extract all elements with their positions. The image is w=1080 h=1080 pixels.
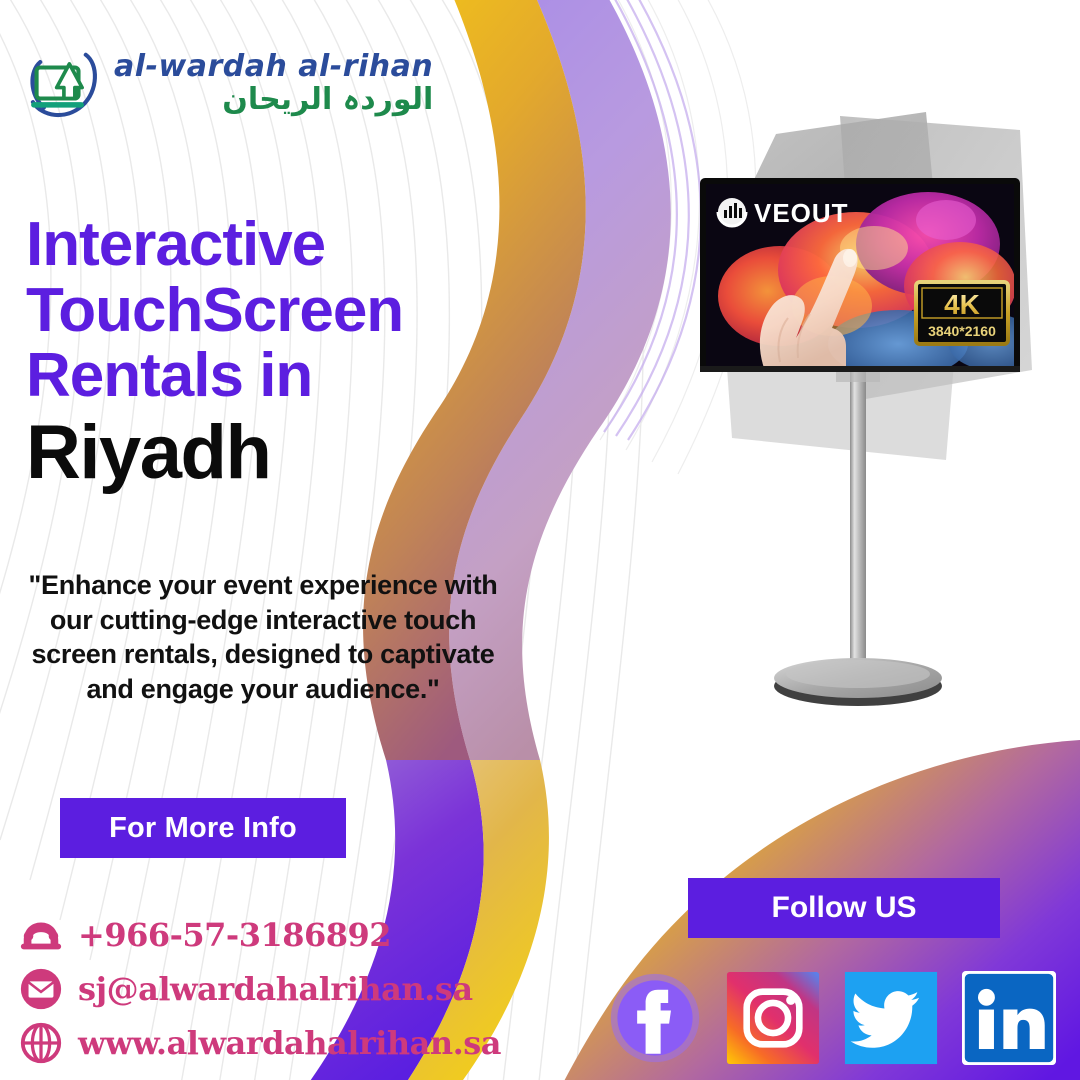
headline-line-3: Rentals in xyxy=(26,343,526,409)
email-icon xyxy=(18,966,64,1012)
headline-city: Riyadh xyxy=(26,413,526,493)
for-more-info-button[interactable]: For More Info xyxy=(60,798,346,858)
follow-us-heading[interactable]: Follow US xyxy=(688,878,1000,938)
contact-phone-value: +966-57-3186892 xyxy=(78,916,391,954)
poster-canvas: al-wardah al-rihan الوردہ الريحان Intera… xyxy=(0,0,1080,1080)
brand-arabic-name: الوردہ الريحان xyxy=(114,85,433,115)
resolution-badge: 4K 3840*2160 xyxy=(916,282,1008,344)
veout-brand-on-screen: VEOUT xyxy=(718,198,849,228)
headline-line-2: TouchScreen xyxy=(26,278,526,344)
svg-text:VEOUT: VEOUT xyxy=(754,198,849,228)
contact-row-phone[interactable]: +966-57-3186892 xyxy=(18,912,501,958)
svg-text:3840*2160: 3840*2160 xyxy=(928,323,996,339)
phone-icon xyxy=(18,912,64,958)
svg-text:4K: 4K xyxy=(944,289,980,320)
product-image: VEOUT 4K 3840*2160 xyxy=(660,100,1060,720)
brand-logo[interactable]: al-wardah al-rihan الوردہ الريحان xyxy=(22,42,433,124)
contact-list: +966-57-3186892 sj@alwardahalrihan.sa ww… xyxy=(18,912,501,1066)
headline-line-1: Interactive xyxy=(26,212,526,278)
tagline-text: "Enhance your event experience with our … xyxy=(14,568,512,706)
contact-website-value: www.alwardahalrihan.sa xyxy=(78,1024,501,1062)
page-title: Interactive TouchScreen Rentals in Riyad… xyxy=(26,212,526,493)
globe-icon xyxy=(18,1020,64,1066)
twitter-icon[interactable] xyxy=(844,971,938,1065)
instagram-icon[interactable] xyxy=(726,971,820,1065)
contact-row-website[interactable]: www.alwardahalrihan.sa xyxy=(18,1020,501,1066)
linkedin-icon[interactable] xyxy=(962,971,1056,1065)
screen-cursor-icon xyxy=(22,42,104,124)
contact-row-email[interactable]: sj@alwardahalrihan.sa xyxy=(18,966,501,1012)
contact-email-value: sj@alwardahalrihan.sa xyxy=(78,970,473,1008)
social-links xyxy=(608,966,1048,1070)
facebook-icon[interactable] xyxy=(608,971,702,1065)
brand-latin-name: al-wardah al-rihan xyxy=(114,52,433,82)
